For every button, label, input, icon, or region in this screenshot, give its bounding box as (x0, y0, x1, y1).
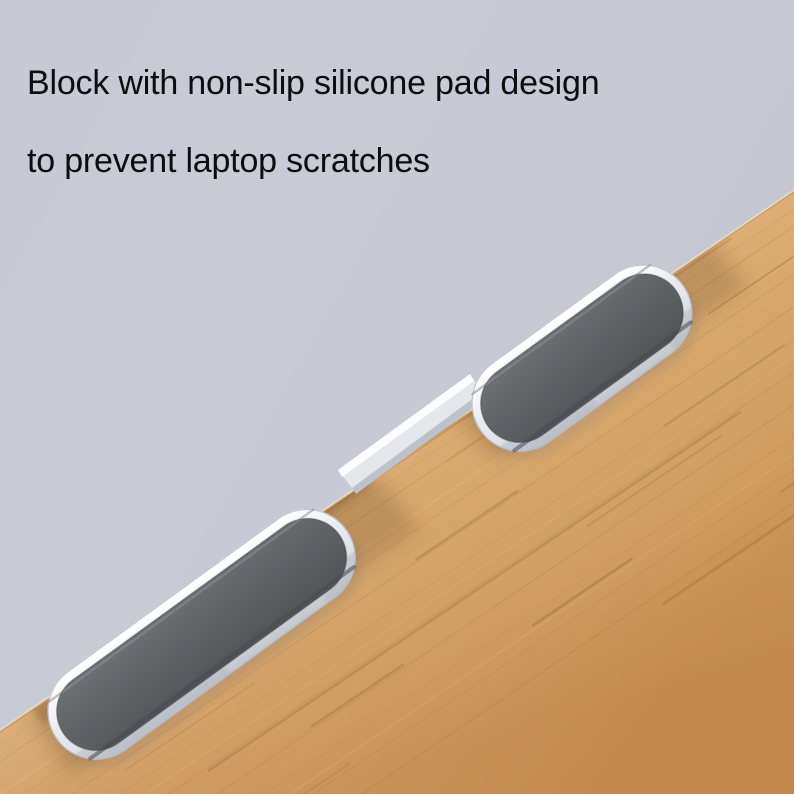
caption-line-1: Block with non-slip silicone pad design (27, 44, 777, 122)
caption-line-2: to prevent laptop scratches (27, 122, 777, 200)
caption-text: Block with non-slip silicone pad design … (27, 44, 777, 200)
product-image: Block with non-slip silicone pad design … (0, 0, 794, 794)
